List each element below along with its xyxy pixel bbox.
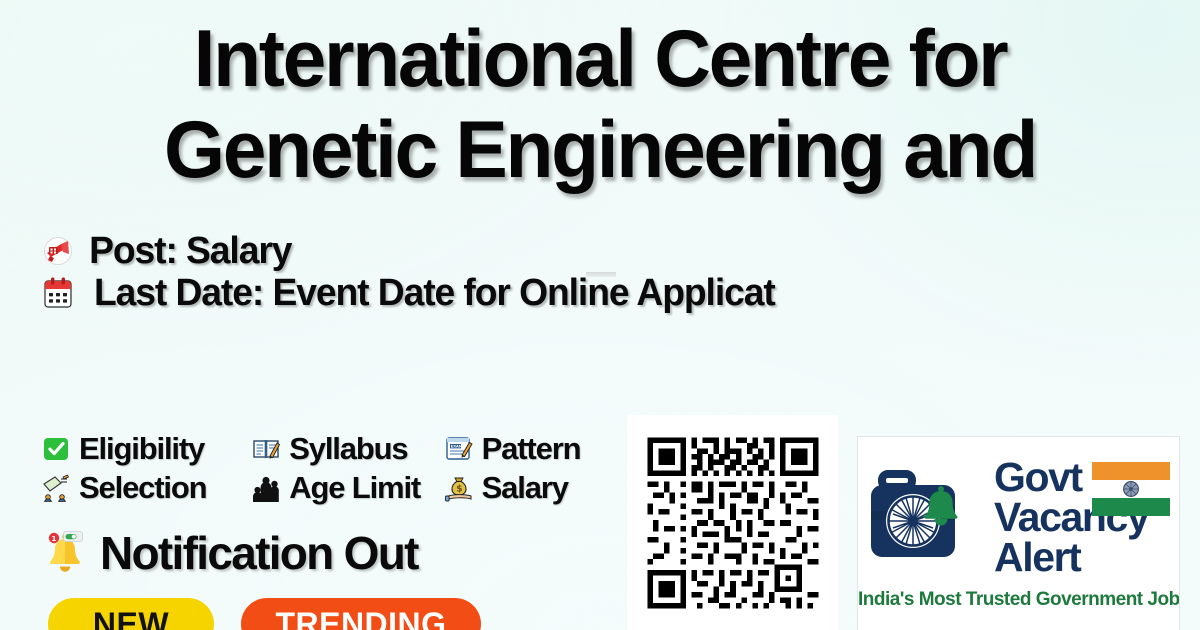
svg-text:1: 1 (51, 534, 56, 543)
family-group-icon (252, 473, 280, 503)
detail-list: Post: Salary Last Date: Event Date for O… (42, 229, 1102, 315)
notification-text: Notification Out (100, 527, 418, 579)
detail-text-last-date: Last Date: Event Date for Online Applica… (94, 272, 775, 314)
calendar-icon (42, 276, 74, 310)
notification-banner: 1 Notification Out (44, 527, 418, 579)
brand-tagline: India's Most Trusted Government Job Aler… (858, 589, 1179, 611)
feature-eligibility: Eligibility (42, 432, 252, 466)
svg-text:$: $ (456, 484, 462, 494)
brand-logo-card: Govt Vacancy Alert India's Most Trusted … (857, 436, 1180, 630)
feature-label-syllabus: Syllabus (289, 432, 407, 466)
feature-label-eligibility: Eligibility (79, 432, 204, 466)
feature-selection: Selection (42, 471, 252, 505)
brand-word-alert: Alert (994, 537, 1148, 577)
india-flag-icon (1092, 462, 1170, 516)
page-title: International Centre for Genetic Enginee… (0, 14, 1200, 196)
feature-label-selection: Selection (79, 471, 206, 505)
page-title-line-2: Genetic Engineering and (18, 105, 1182, 196)
megaphone-icon (42, 234, 74, 268)
exam-paper-icon: EXAM (445, 434, 473, 464)
qr-code[interactable] (642, 432, 824, 614)
feature-label-age-limit: Age Limit (289, 471, 420, 505)
detail-row-post: Post: Salary (42, 229, 1102, 273)
selection-hand-icon (42, 473, 70, 503)
qr-code-panel[interactable] (627, 415, 838, 630)
feature-age-limit: Age Limit (252, 471, 444, 505)
feature-syllabus: Syllabus (252, 432, 444, 466)
detail-text-post: Post: Salary (89, 230, 291, 272)
feature-pattern: EXAM Pattern (445, 432, 642, 466)
feature-row-2: Selection Age Limit $ (42, 468, 642, 507)
feature-row-1: Eligibility Syllabus (42, 429, 642, 468)
page-title-line-1: International Centre for (18, 14, 1182, 105)
detail-row-last-date: Last Date: Event Date for Online Applica… (42, 271, 1102, 315)
feature-label-salary: Salary (482, 471, 568, 505)
check-mark-icon (42, 434, 70, 464)
feature-salary: $ Salary (445, 471, 642, 505)
money-bag-icon: $ (445, 473, 473, 503)
bell-icon: 1 (44, 529, 86, 577)
briefcase-chakra-bell-icon (868, 458, 986, 576)
badge-row: NEW TRENDING (48, 598, 481, 630)
open-book-icon (252, 434, 280, 464)
status-badge-trending[interactable]: TRENDING (241, 598, 481, 630)
feature-label-pattern: Pattern (482, 432, 581, 466)
feature-grid: Eligibility Syllabus (42, 429, 642, 507)
status-badge-new[interactable]: NEW (48, 598, 214, 630)
svg-text:EXAM: EXAM (450, 444, 462, 448)
